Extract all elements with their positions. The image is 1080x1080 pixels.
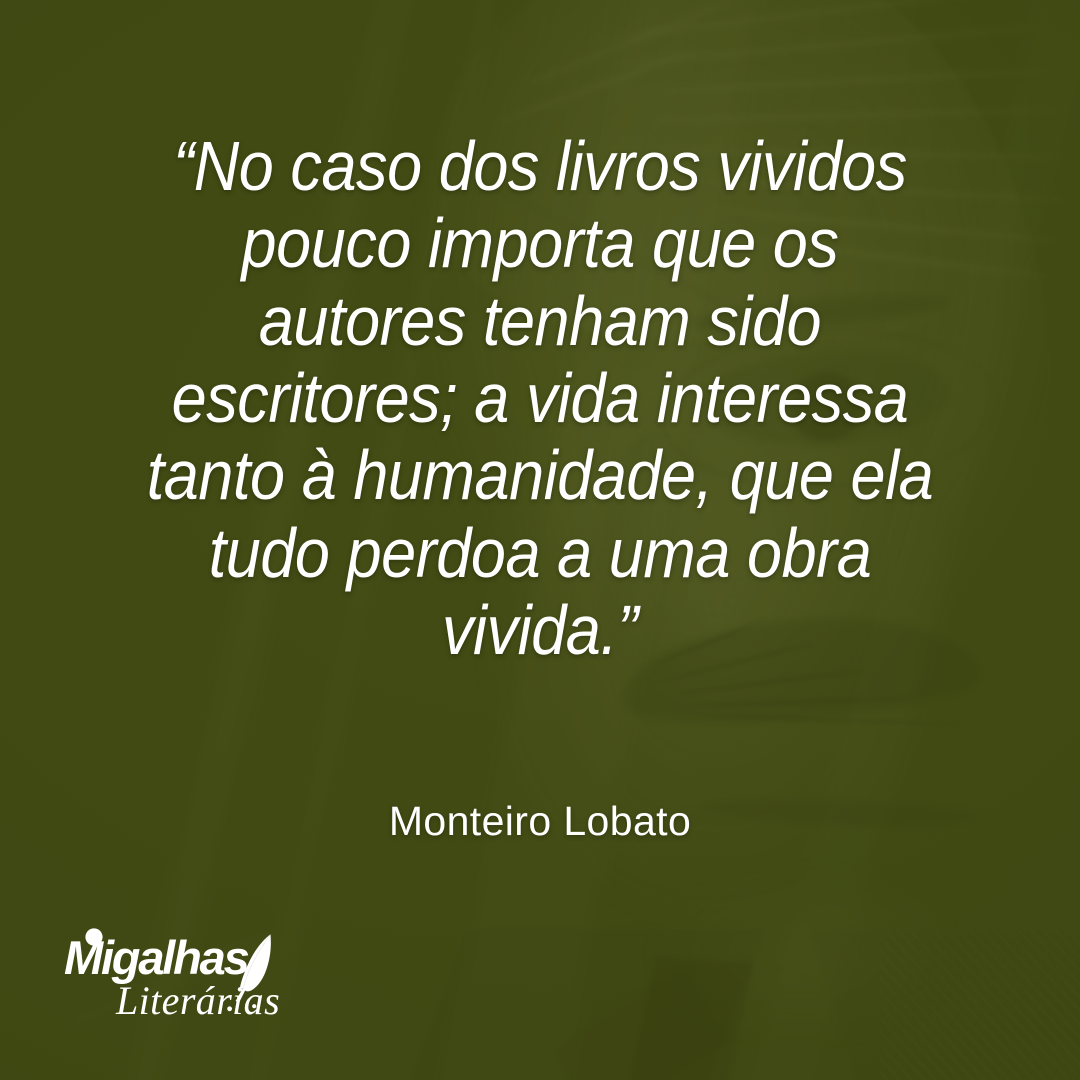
migalhas-literarias-logo[interactable]: Migalhas Literárias <box>64 928 334 1024</box>
author-name: Monteiro Lobato <box>0 798 1080 845</box>
logo-i-dot <box>85 928 102 945</box>
quote-text: “No caso dos livros vividos pouco import… <box>54 128 1026 669</box>
logo-literarias-text: Literárias <box>115 978 280 1023</box>
logo-artwork: Migalhas Literárias <box>64 928 334 1024</box>
logo-wordmark-migalhas: Migalhas <box>64 928 249 984</box>
quote-card: “No caso dos livros vividos pouco import… <box>0 0 1080 1080</box>
card-content: “No caso dos livros vividos pouco import… <box>0 0 1080 1080</box>
